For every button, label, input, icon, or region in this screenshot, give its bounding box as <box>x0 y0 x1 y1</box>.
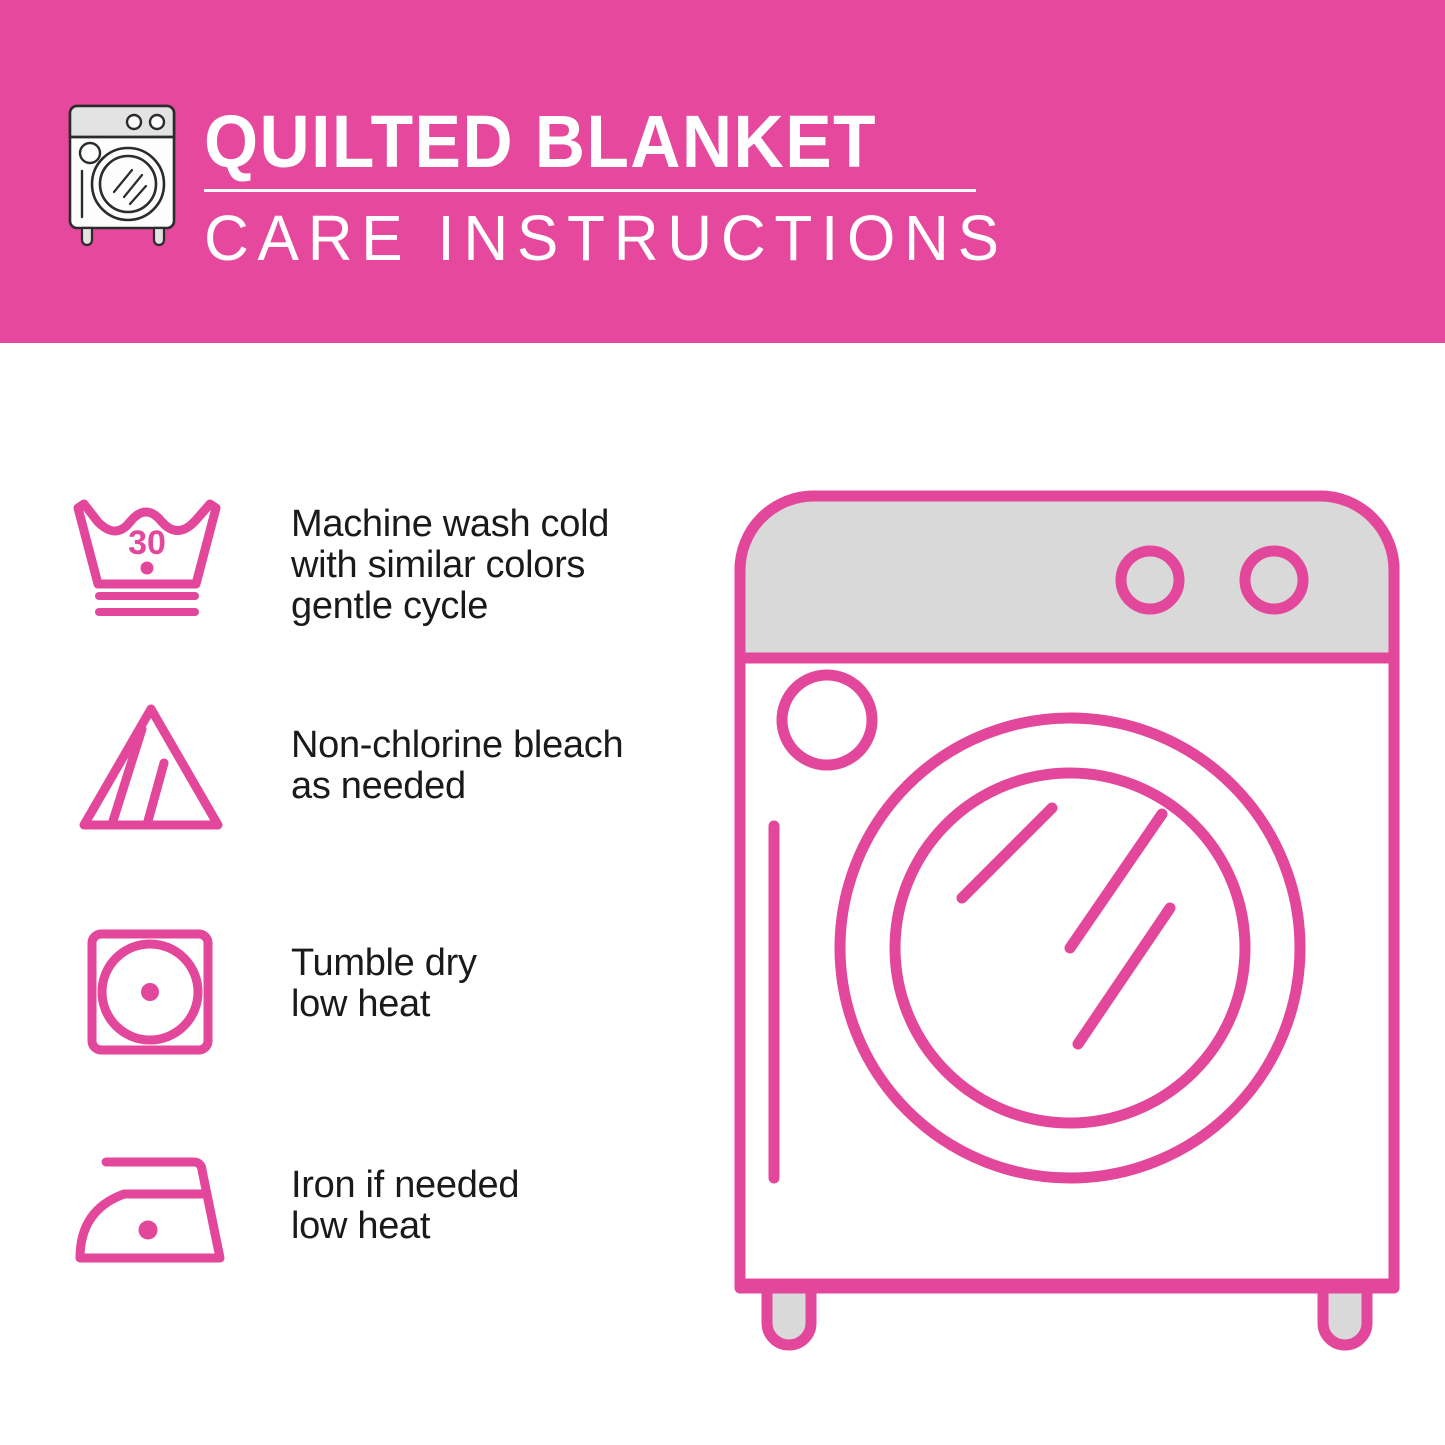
non-chlorine-bleach-triangle-icon <box>72 699 230 839</box>
dry-heat-dot <box>141 983 159 1001</box>
washing-machine-icon <box>62 100 192 250</box>
wash-temp-label: 30 <box>128 524 166 562</box>
care-row-iron: Iron if needed low heat <box>0 1130 700 1305</box>
care-text-line: Machine wash cold <box>291 504 691 545</box>
care-row-wash: 30 Machine wash cold with similar colors… <box>0 470 700 670</box>
care-text-line: Iron if needed <box>291 1165 691 1206</box>
care-text-line: low heat <box>291 1206 691 1247</box>
care-text-iron: Iron if needed low heat <box>291 1165 691 1247</box>
header-text-block: QUILTED BLANKET CARE INSTRUCTIONS <box>204 103 994 274</box>
washer-dispenser-circle <box>782 675 872 765</box>
care-row-dry: Tumble dry low heat <box>0 910 700 1090</box>
care-text-line: Non-chlorine bleach <box>291 725 691 766</box>
care-text-line: low heat <box>291 984 691 1025</box>
care-text-dry: Tumble dry low heat <box>291 943 691 1025</box>
page-subtitle: CARE INSTRUCTIONS <box>204 202 970 274</box>
care-text-line: Tumble dry <box>291 943 691 984</box>
care-row-bleach: Non-chlorine bleach as needed <box>0 685 700 870</box>
care-text-wash: Machine wash cold with similar colors ge… <box>291 504 691 627</box>
page-title: QUILTED BLANKET <box>204 103 947 181</box>
care-text-line: gentle cycle <box>291 586 691 627</box>
header-banner: QUILTED BLANKET CARE INSTRUCTIONS <box>0 0 1445 343</box>
iron-low-heat-icon <box>68 1152 232 1270</box>
wash-tub-30-gentle-icon: 30 <box>68 492 228 622</box>
front-load-washing-machine-illustration <box>722 478 1412 1368</box>
care-text-line: with similar colors <box>291 545 691 586</box>
care-text-line: as needed <box>291 766 691 807</box>
iron-heat-dot <box>139 1221 158 1240</box>
wash-dot <box>141 562 154 575</box>
washer-knob-right <box>1245 551 1303 609</box>
title-divider <box>204 189 976 192</box>
care-text-bleach: Non-chlorine bleach as needed <box>291 725 691 807</box>
tumble-dry-low-heat-icon <box>84 926 216 1058</box>
care-instructions-infographic: QUILTED BLANKET CARE INSTRUCTIONS 30 Mac… <box>0 0 1445 1445</box>
washer-knob-left <box>1121 551 1179 609</box>
